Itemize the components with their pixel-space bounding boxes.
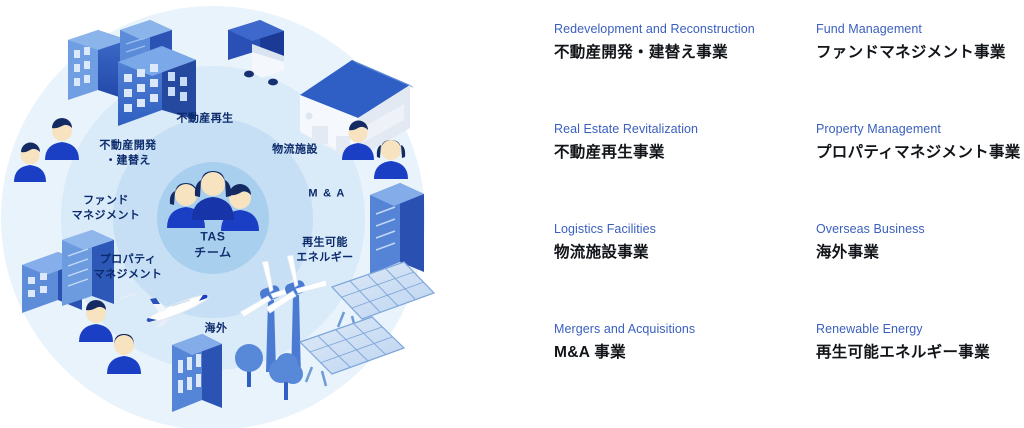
- business-item-overseas: Overseas Business 海外事業: [816, 222, 1021, 322]
- business-item-property-management: Property Management プロパティマネジメント事業: [816, 122, 1021, 222]
- business-ja-label: ファンドマネジメント事業: [816, 43, 1021, 63]
- business-en-label: Fund Management: [816, 22, 1021, 38]
- business-en-label: Mergers and Acquisitions: [554, 322, 816, 338]
- business-item-fund-management: Fund Management ファンドマネジメント事業: [816, 22, 1021, 122]
- business-item-redevelopment: Redevelopment and Reconstruction 不動産開発・建…: [554, 22, 816, 122]
- business-ja-label: 海外事業: [816, 243, 1021, 263]
- business-ja-label: プロパティマネジメント事業: [816, 143, 1021, 163]
- business-list-panel: Redevelopment and Reconstruction 不動産開発・建…: [512, 0, 1024, 428]
- business-ja-label: 物流施設事業: [554, 243, 816, 263]
- business-ja-label: M&A 事業: [554, 343, 816, 363]
- business-diagram: 不動産再生 不動産開発 ・建替え 物流施設 ファンド マネジメント M & A …: [0, 0, 512, 428]
- business-item-real-estate-revitalization: Real Estate Revitalization 不動産再生事業: [554, 122, 816, 222]
- business-en-label: Overseas Business: [816, 222, 1021, 238]
- business-item-mergers-acquisitions: Mergers and Acquisitions M&A 事業: [554, 322, 816, 422]
- business-en-label: Property Management: [816, 122, 1021, 138]
- business-grid: Redevelopment and Reconstruction 不動産開発・建…: [554, 22, 1020, 422]
- business-item-renewable-energy: Renewable Energy 再生可能エネルギー事業: [816, 322, 1021, 422]
- apartment-building-icon: [172, 334, 222, 412]
- business-ja-label: 不動産開発・建替え事業: [554, 43, 816, 63]
- business-ja-label: 再生可能エネルギー事業: [816, 343, 1021, 363]
- business-en-label: Redevelopment and Reconstruction: [554, 22, 816, 38]
- business-en-label: Renewable Energy: [816, 322, 1021, 338]
- business-ja-label: 不動産再生事業: [554, 143, 816, 163]
- diagram-illustration: [0, 0, 512, 428]
- business-item-logistics-facilities: Logistics Facilities 物流施設事業: [554, 222, 816, 322]
- business-overview-page: 不動産再生 不動産開発 ・建替え 物流施設 ファンド マネジメント M & A …: [0, 0, 1024, 428]
- corporate-tower-icon: [370, 183, 424, 274]
- business-en-label: Real Estate Revitalization: [554, 122, 816, 138]
- business-en-label: Logistics Facilities: [554, 222, 816, 238]
